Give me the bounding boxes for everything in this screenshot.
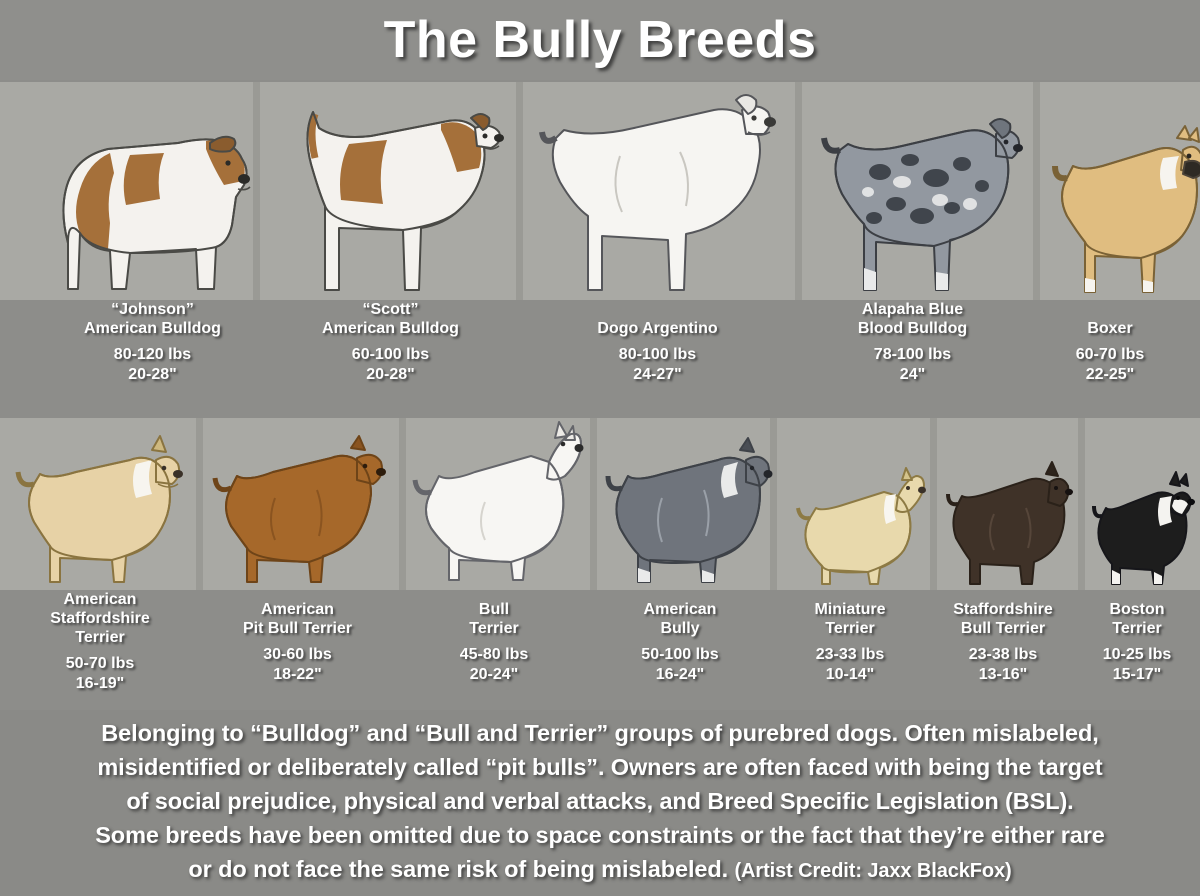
dog-illustration-scott-american-bulldog [275, 88, 510, 298]
breed-name: Boxer [1030, 319, 1190, 338]
breed-stats: 78-100 lbs24" [800, 345, 1025, 385]
footer-line-3: of social prejudice, physical and verbal… [0, 784, 1200, 818]
breed-name: American Bully [594, 600, 766, 638]
footer-line-5: or do not face the same risk of being mi… [0, 852, 1200, 888]
breed-name: “Scott” American Bulldog [268, 300, 513, 338]
panel-divider [930, 418, 937, 590]
dog-illustration-boxer [1045, 116, 1200, 298]
panel-divider [1033, 82, 1040, 300]
dog-illustration-bull-terrier [405, 420, 590, 588]
breed-stats: 80-100 lbs24-27" [540, 345, 775, 385]
breed-stats: 60-70 lbs22-25" [1030, 345, 1190, 385]
panel-divider [795, 82, 802, 300]
row-1-labels: “Johnson” American Bulldog 80-120 lbs20-… [0, 300, 1200, 418]
bully-breeds-infographic: The Bully Breeds [0, 0, 1200, 896]
footer-line-1: Belonging to “Bulldog” and “Bull and Ter… [0, 716, 1200, 750]
breed-name: Dogo Argentino [540, 319, 775, 338]
breed-name: American Pit Bull Terrier [200, 600, 395, 638]
breed-name: Staffordshire Bull Terrier [932, 600, 1074, 638]
breed-name: American Staffordshire Terrier [5, 590, 195, 647]
panel-divider [590, 418, 597, 590]
breed-row-1-panel [0, 82, 1200, 300]
footer-line-4: Some breeds have been omitted due to spa… [0, 818, 1200, 852]
breed-stats: 30-60 lbs18-22" [200, 645, 395, 685]
breed-stats: 60-100 lbs20-28" [268, 345, 513, 385]
footer-description: Belonging to “Bulldog” and “Bull and Ter… [0, 716, 1200, 888]
dog-illustration-american-staffordshire-terrier [6, 426, 196, 588]
breed-stats: 23-38 lbs13-16" [932, 645, 1074, 685]
title-bar: The Bully Breeds [0, 0, 1200, 80]
panel-divider [196, 418, 203, 590]
dog-illustration-staffordshire-bull-terrier [940, 458, 1080, 588]
breed-row-2-panel [0, 418, 1200, 590]
breed-name: Bull Terrier [404, 600, 584, 638]
row-2-labels: American Staffordshire Terrier 50-70 lbs… [0, 590, 1200, 710]
breed-name: Boston Terrier [1078, 600, 1196, 638]
dog-illustration-dogo-argentino [530, 86, 785, 298]
breed-name: Alapaha Blue Blood Bulldog [800, 300, 1025, 338]
dog-illustration-american-pit-bull-terrier [205, 428, 395, 588]
breed-stats: 45-80 lbs20-24" [404, 645, 584, 685]
breed-stats: 50-100 lbs16-24" [594, 645, 766, 685]
dog-illustration-alapaha-blue-blood-bulldog [810, 108, 1025, 298]
artist-credit: (Artist Credit: Jaxx BlackFox) [735, 860, 1012, 882]
breed-stats: 23-33 lbs10-14" [774, 645, 926, 685]
dog-illustration-american-bully [600, 436, 775, 588]
breed-name: Miniature Terrier [774, 600, 926, 638]
dog-illustration-boston-terrier [1086, 470, 1200, 588]
footer-line-2: misidentified or deliberately called “pi… [0, 750, 1200, 784]
footer-line-5-main: or do not face the same risk of being mi… [188, 856, 728, 882]
breed-stats: 80-120 lbs20-28" [30, 345, 275, 385]
breed-stats: 50-70 lbs16-19" [5, 654, 195, 694]
breed-stats: 10-25 lbs15-17" [1078, 645, 1196, 685]
panel-divider [516, 82, 523, 300]
page-title: The Bully Breeds [384, 10, 817, 70]
dog-illustration-miniature-terrier [790, 466, 930, 588]
breed-name: “Johnson” American Bulldog [30, 300, 275, 338]
dog-illustration-johnson-american-bulldog [10, 93, 260, 298]
